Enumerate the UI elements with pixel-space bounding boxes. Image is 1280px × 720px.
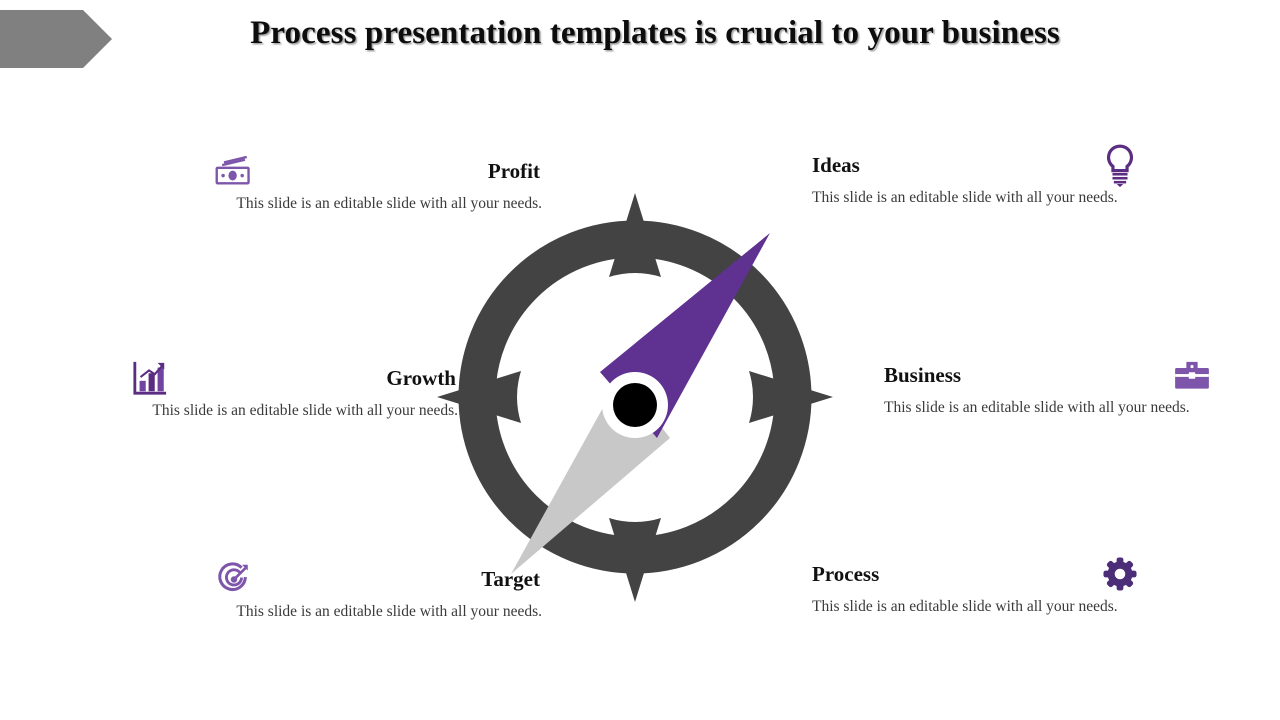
item-ideas-title: Ideas <box>812 153 860 178</box>
item-growth-head: Growth <box>128 355 458 401</box>
compass-diagram <box>425 185 845 610</box>
item-profit-body: This slide is an editable slide with all… <box>212 194 542 214</box>
lightbulb-icon <box>1098 143 1142 187</box>
slide-header: Process presentation templates is crucia… <box>0 0 1280 86</box>
item-profit-title: Profit <box>488 159 542 184</box>
item-process-head: Process <box>812 551 1142 597</box>
item-business-head: Business <box>884 352 1214 398</box>
money-icon <box>212 149 256 193</box>
briefcase-icon <box>1170 353 1214 397</box>
item-target[interactable]: Target This slide is an editable slide w… <box>212 556 542 622</box>
item-business[interactable]: Business This slide is an editable slide… <box>884 352 1214 418</box>
gear-icon <box>1098 552 1142 596</box>
item-profit[interactable]: Profit This slide is an editable slide w… <box>212 148 542 214</box>
header-arrow-shape <box>0 10 112 68</box>
item-target-body: This slide is an editable slide with all… <box>212 602 542 622</box>
item-process-body: This slide is an editable slide with all… <box>812 597 1142 617</box>
item-ideas-body: This slide is an editable slide with all… <box>812 188 1142 208</box>
item-process-title: Process <box>812 562 879 587</box>
item-process[interactable]: Process This slide is an editable slide … <box>812 551 1142 617</box>
page-title: Process presentation templates is crucia… <box>150 15 1160 52</box>
target-icon <box>212 557 256 601</box>
item-target-head: Target <box>212 556 542 602</box>
item-profit-head: Profit <box>212 148 542 194</box>
item-business-title: Business <box>884 363 961 388</box>
item-ideas-head: Ideas <box>812 142 1142 188</box>
compass-hub-center <box>613 383 657 427</box>
item-growth-body: This slide is an editable slide with all… <box>128 401 458 421</box>
item-growth[interactable]: Growth This slide is an editable slide w… <box>128 355 458 421</box>
item-target-title: Target <box>481 567 542 592</box>
item-business-body: This slide is an editable slide with all… <box>884 398 1214 418</box>
bar-chart-icon <box>128 356 172 400</box>
item-growth-title: Growth <box>386 366 458 391</box>
item-ideas[interactable]: Ideas This slide is an editable slide wi… <box>812 142 1142 208</box>
